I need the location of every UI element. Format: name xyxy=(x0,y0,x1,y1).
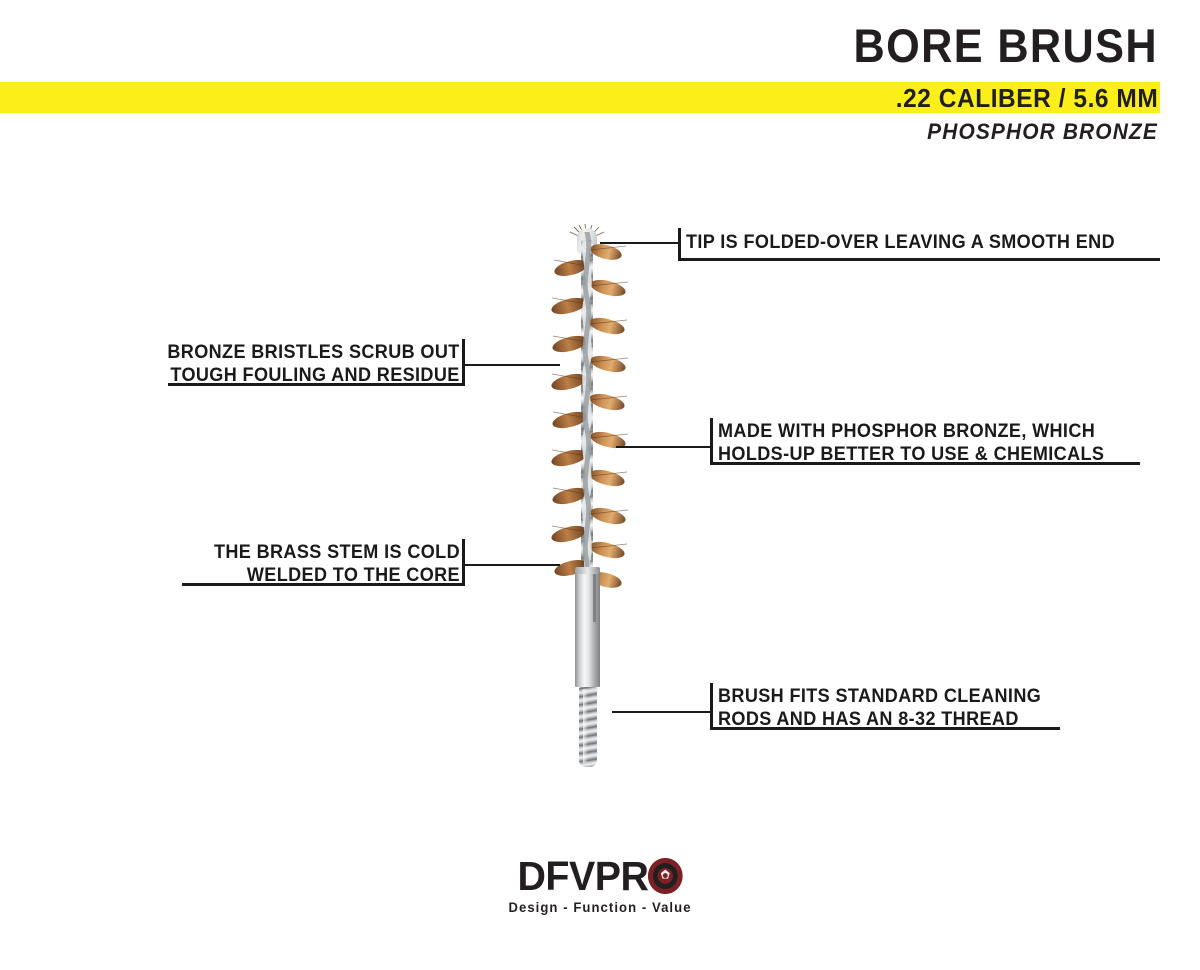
callout-brass-stem-leader xyxy=(465,564,560,566)
callout-phosphor-bronze-line-1: MADE WITH PHOSPHOR BRONZE, WHICH xyxy=(718,420,1104,443)
infographic-canvas: BORE BRUSH .22 CALIBER / 5.6 MM PHOSPHOR… xyxy=(0,0,1200,970)
brand-logo-emblem-icon xyxy=(657,867,674,885)
callout-bristles-leader xyxy=(465,364,560,366)
caliber-label: .22 CALIBER / 5.6 MM xyxy=(895,84,1158,112)
callout-thread-leader xyxy=(612,711,711,713)
callout-thread-bracket xyxy=(710,683,713,730)
callout-bristles-line-1: BRONZE BRISTLES SCRUB OUT xyxy=(168,341,460,364)
callout-tip-line-1: TIP IS FOLDED-OVER LEAVING A SMOOTH END xyxy=(686,231,1115,254)
brand-logo-tagline: Design - Function - Value xyxy=(18,900,1182,915)
callout-brass-stem-bracket xyxy=(462,539,465,586)
callout-phosphor-bronze-bracket xyxy=(710,418,713,465)
header: BORE BRUSH .22 CALIBER / 5.6 MM PHOSPHOR… xyxy=(0,0,1200,160)
callout-tip-bracket xyxy=(678,228,681,261)
callout-brass-stem: THE BRASS STEM IS COLD WELDED TO THE COR… xyxy=(201,541,460,587)
brand-logo-text: DFVPR xyxy=(517,853,648,899)
material-label: PHOSPHOR BRONZE xyxy=(927,120,1158,144)
callout-tip-leader xyxy=(600,242,680,244)
brand-logo-wordmark: DFVPR xyxy=(517,856,683,897)
callout-bristles-underline xyxy=(168,383,465,386)
callout-phosphor-bronze-underline xyxy=(710,462,1140,465)
callout-tip: TIP IS FOLDED-OVER LEAVING A SMOOTH END xyxy=(686,231,1138,254)
brush-shank xyxy=(575,567,600,687)
callout-phosphor-bronze: MADE WITH PHOSPHOR BRONZE, WHICH HOLDS-U… xyxy=(718,420,1125,466)
callout-brass-stem-underline xyxy=(182,583,465,586)
page-title: BORE BRUSH xyxy=(854,22,1158,69)
brush-thread xyxy=(579,687,597,767)
callout-bristles: BRONZE BRISTLES SCRUB OUT TOUGH FOULING … xyxy=(152,341,460,387)
product-image-bore-brush xyxy=(540,222,650,777)
brush-shank-slot xyxy=(593,574,596,622)
brush-shank-collar xyxy=(575,567,600,574)
callout-thread: BRUSH FITS STANDARD CLEANING RODS AND HA… xyxy=(718,685,1058,731)
brush-bristles xyxy=(540,232,650,592)
brand-logo: DFVPR Design - Function - Value xyxy=(0,856,1200,915)
brand-logo-ring-icon xyxy=(648,858,683,894)
callout-phosphor-bronze-leader xyxy=(616,446,711,448)
callout-bristles-bracket xyxy=(462,339,465,386)
callout-tip-underline xyxy=(678,258,1160,261)
brush-thread-highlight xyxy=(583,689,588,763)
callout-thread-underline xyxy=(710,727,1060,730)
callout-brass-stem-line-1: THE BRASS STEM IS COLD xyxy=(214,541,460,564)
callout-thread-line-1: BRUSH FITS STANDARD CLEANING xyxy=(718,685,1041,708)
